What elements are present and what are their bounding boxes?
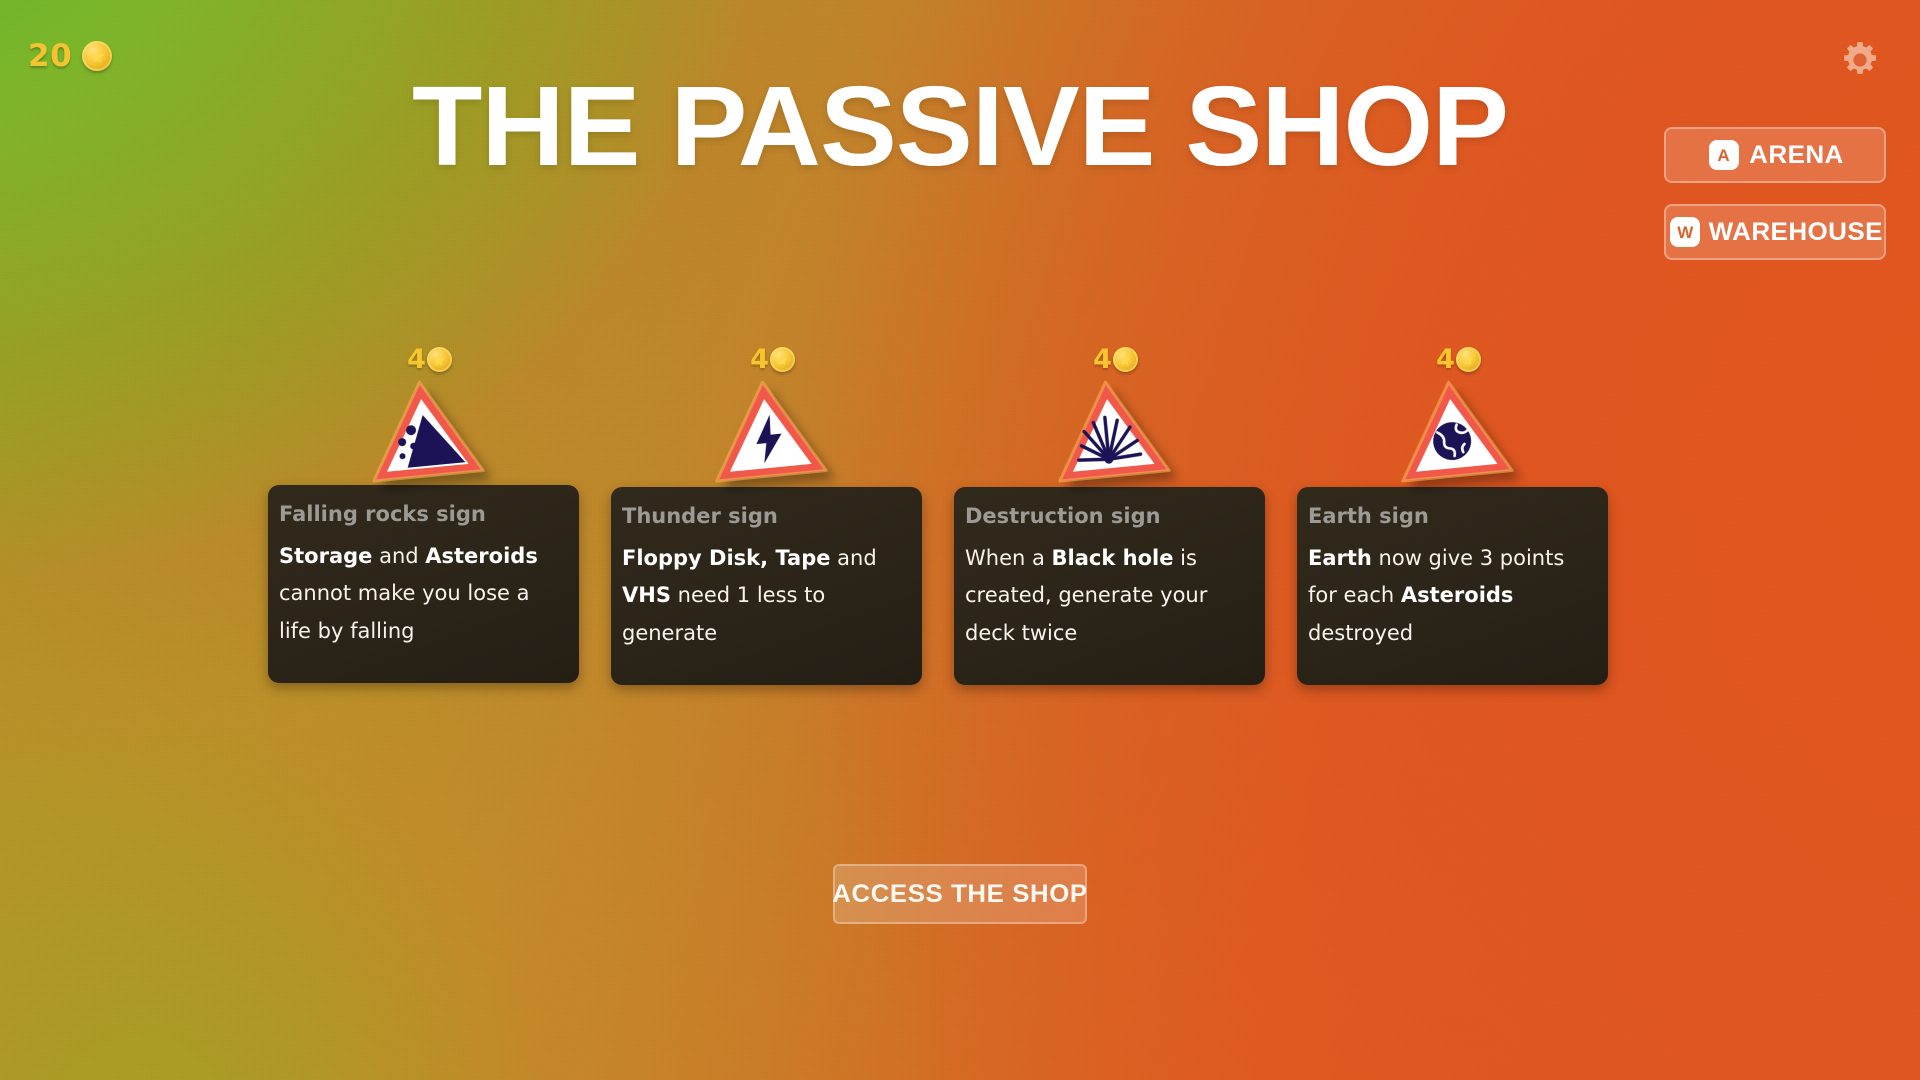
- price-amount: 4: [1436, 344, 1455, 375]
- item-description: When a Black hole is created, generate y…: [965, 540, 1254, 652]
- access-the-shop-label: ACCESS THE SHOP: [832, 880, 1087, 909]
- star-coin-icon: [427, 347, 452, 372]
- price-amount: 4: [407, 344, 426, 375]
- price-tag: 4: [1436, 344, 1481, 375]
- arena-button[interactable]: A ARENA: [1664, 127, 1886, 183]
- nav-buttons: A ARENA W WAREHOUSE: [1664, 127, 1886, 260]
- page-title: THE PASSIVE SHOP: [0, 70, 1920, 183]
- shop-item-earth[interactable]: 4: [1297, 344, 1608, 685]
- gear-icon[interactable]: [1836, 36, 1884, 84]
- shop-item-thunder[interactable]: 4 Thunder sign: [611, 344, 922, 685]
- arena-button-label: ARENA: [1749, 141, 1844, 170]
- item-info-card: Earth sign Earth now give 3 points for e…: [1297, 487, 1608, 685]
- star-coin-icon: [770, 347, 795, 372]
- destruction-sign-icon: [1045, 371, 1174, 486]
- game-screen: 20 THE PASSIVE SHOP A ARENA W WAREHOUSE: [0, 0, 1920, 1080]
- access-the-shop-button[interactable]: ACCESS THE SHOP: [833, 864, 1087, 924]
- price-amount: 4: [750, 344, 769, 375]
- star-coin-icon: [82, 41, 112, 71]
- earth-sign-icon: [1388, 371, 1517, 486]
- shop-item-destruction[interactable]: 4: [954, 344, 1265, 685]
- shop-item-falling-rocks[interactable]: 4: [268, 344, 579, 685]
- coin-counter: 20: [28, 38, 112, 74]
- item-title: Destruction sign: [965, 505, 1254, 528]
- item-title: Falling rocks sign: [279, 503, 568, 526]
- item-info-card: Destruction sign When a Black hole is cr…: [954, 487, 1265, 685]
- warehouse-button-label: WAREHOUSE: [1709, 218, 1883, 247]
- price-tag: 4: [750, 344, 795, 375]
- item-description: Earth now give 3 points for each Asteroi…: [1308, 540, 1597, 652]
- item-info-card: Thunder sign Floppy Disk, Tape and VHS n…: [611, 487, 922, 685]
- item-info-card: Falling rocks sign Storage and Asteroids…: [268, 485, 579, 683]
- coin-amount: 20: [28, 38, 72, 74]
- thunder-sign-icon: [702, 371, 831, 486]
- item-title: Earth sign: [1308, 505, 1597, 528]
- item-description: Floppy Disk, Tape and VHS need 1 less to…: [622, 540, 911, 652]
- price-amount: 4: [1093, 344, 1112, 375]
- arena-key-badge: A: [1709, 140, 1739, 170]
- price-tag: 4: [1093, 344, 1138, 375]
- falling-rocks-sign-icon: [359, 371, 488, 486]
- star-coin-icon: [1113, 347, 1138, 372]
- star-coin-icon: [1456, 347, 1481, 372]
- shop-items-row: 4: [268, 344, 1688, 685]
- warehouse-button[interactable]: W WAREHOUSE: [1664, 204, 1886, 260]
- item-title: Thunder sign: [622, 505, 911, 528]
- warehouse-key-badge: W: [1670, 217, 1700, 247]
- price-tag: 4: [407, 344, 452, 375]
- item-description: Storage and Asteroids cannot make you lo…: [279, 538, 568, 650]
